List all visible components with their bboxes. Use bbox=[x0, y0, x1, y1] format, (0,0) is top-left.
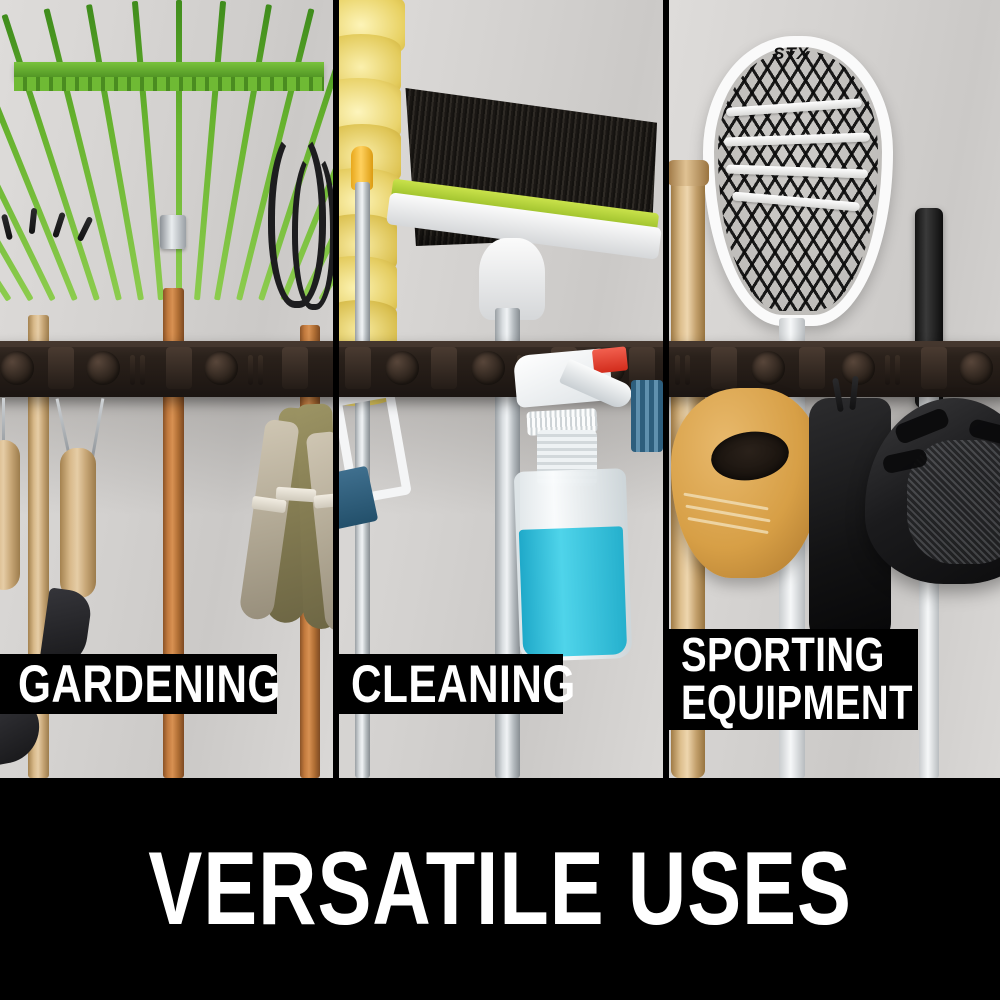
panel-divider-2 bbox=[663, 0, 669, 778]
label-sporting: SPORTING EQUIPMENT bbox=[669, 629, 918, 730]
label-cleaning-text: CLEANING bbox=[351, 658, 521, 711]
banner-headline: VERSATILE USES bbox=[148, 837, 852, 941]
label-gardening-text: GARDENING bbox=[18, 658, 225, 711]
panel-cleaning: CLEANING bbox=[339, 0, 663, 778]
lacrosse-brand-logo: STX bbox=[773, 44, 809, 64]
cleaning-cloth bbox=[631, 380, 663, 452]
hand-tool-handle bbox=[60, 448, 96, 598]
storage-rail bbox=[0, 341, 333, 397]
hand-tool-handle-2 bbox=[0, 440, 20, 590]
label-sporting-line-1: SPORTING bbox=[681, 632, 871, 680]
panel-sporting: STX bbox=[669, 0, 1000, 778]
garden-tool-grip bbox=[26, 228, 50, 323]
rake-grip bbox=[160, 188, 186, 234]
panel-gardening: GARDENING bbox=[0, 0, 333, 778]
label-cleaning: CLEANING bbox=[339, 654, 563, 714]
bottom-banner: VERSATILE USES bbox=[0, 778, 1000, 1000]
photo-strip: GARDENING bbox=[0, 0, 1000, 778]
cultivator-secondary-icon bbox=[292, 150, 333, 310]
product-collage: GARDENING bbox=[0, 0, 1000, 1000]
label-sporting-line-2: EQUIPMENT bbox=[681, 680, 871, 728]
panel-divider-1 bbox=[333, 0, 339, 778]
baseball-bat-knob bbox=[669, 160, 709, 186]
label-gardening: GARDENING bbox=[0, 654, 277, 714]
baseball-glove bbox=[671, 388, 821, 578]
